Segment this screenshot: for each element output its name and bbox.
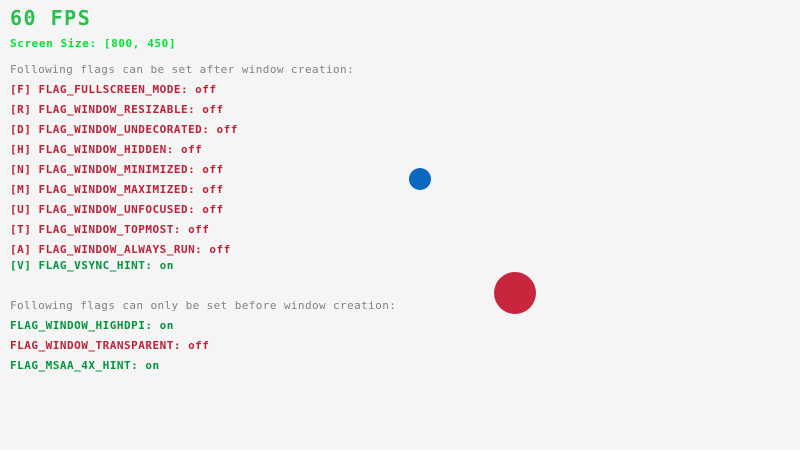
flag-row-window-maximized[interactable]: [M] FLAG_WINDOW_MAXIMIZED: off xyxy=(10,184,224,195)
red-circle xyxy=(494,272,536,314)
blue-circle xyxy=(409,168,431,190)
fps-counter: 60 FPS xyxy=(10,8,91,28)
flag-row-msaa-4x-hint: FLAG_MSAA_4X_HINT: on xyxy=(10,360,160,371)
flag-row-window-resizable[interactable]: [R] FLAG_WINDOW_RESIZABLE: off xyxy=(10,104,224,115)
section-header-before-creation: Following flags can only be set before w… xyxy=(10,300,396,311)
flag-row-vsync-hint[interactable]: [V] FLAG_VSYNC_HINT: on xyxy=(10,260,174,271)
flag-row-window-highdpi: FLAG_WINDOW_HIGHDPI: on xyxy=(10,320,174,331)
section-header-after-creation: Following flags can be set after window … xyxy=(10,64,354,75)
flag-row-window-always-run[interactable]: [A] FLAG_WINDOW_ALWAYS_RUN: off xyxy=(10,244,231,255)
flag-row-window-undecorated[interactable]: [D] FLAG_WINDOW_UNDECORATED: off xyxy=(10,124,238,135)
flag-row-window-topmost[interactable]: [T] FLAG_WINDOW_TOPMOST: off xyxy=(10,224,209,235)
flag-row-window-unfocused[interactable]: [U] FLAG_WINDOW_UNFOCUSED: off xyxy=(10,204,224,215)
flag-row-window-transparent: FLAG_WINDOW_TRANSPARENT: off xyxy=(10,340,209,351)
raylib-window: 60 FPS Screen Size: [800, 450] Following… xyxy=(0,0,800,450)
screen-size-label: Screen Size: [800, 450] xyxy=(10,38,176,49)
flag-row-window-minimized[interactable]: [N] FLAG_WINDOW_MINIMIZED: off xyxy=(10,164,224,175)
flag-row-window-hidden[interactable]: [H] FLAG_WINDOW_HIDDEN: off xyxy=(10,144,202,155)
flag-row-fullscreen-mode[interactable]: [F] FLAG_FULLSCREEN_MODE: off xyxy=(10,84,217,95)
